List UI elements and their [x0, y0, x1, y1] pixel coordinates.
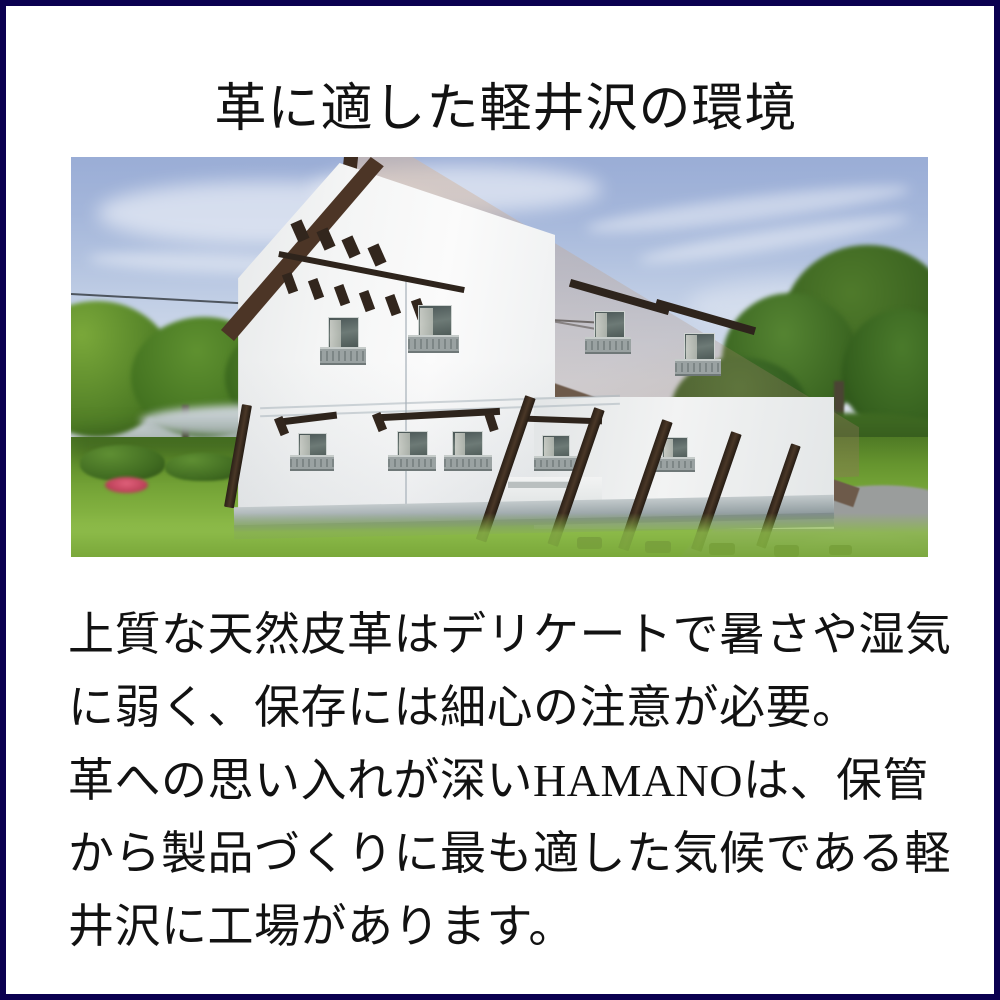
page-title: 革に適した軽井沢の環境	[6, 79, 1000, 141]
window-railing	[388, 455, 436, 471]
dormer-railing	[675, 359, 721, 376]
body-line: に弱く、保存には細心の注意が必要。	[68, 671, 968, 744]
body-paragraph: 上質な天然皮革はデリケートで暑さや湿気 に弱く、保存には細心の注意が必要。 革へ…	[68, 598, 968, 963]
photo-canvas	[71, 157, 928, 557]
window-railing	[444, 455, 492, 471]
body-line: 革への思い入れが深いHAMANOは、保管	[68, 744, 968, 817]
foreground-grass	[71, 513, 928, 557]
balcony-railing	[320, 347, 366, 365]
factory-building	[71, 157, 928, 557]
balcony-railing	[408, 335, 459, 353]
body-line: 上質な天然皮革はデリケートで暑さや湿気	[68, 598, 968, 671]
body-line: 井沢に工場があります。	[68, 890, 968, 963]
window-railing	[290, 455, 335, 471]
wall-seam	[405, 277, 407, 517]
body-line: から製品づくりに最も適した気候である軽	[68, 817, 968, 890]
factory-photo	[71, 157, 928, 557]
window-railing	[534, 456, 577, 471]
dormer-railing	[585, 337, 631, 354]
page-root: 革に適した軽井沢の環境	[0, 0, 1000, 1000]
